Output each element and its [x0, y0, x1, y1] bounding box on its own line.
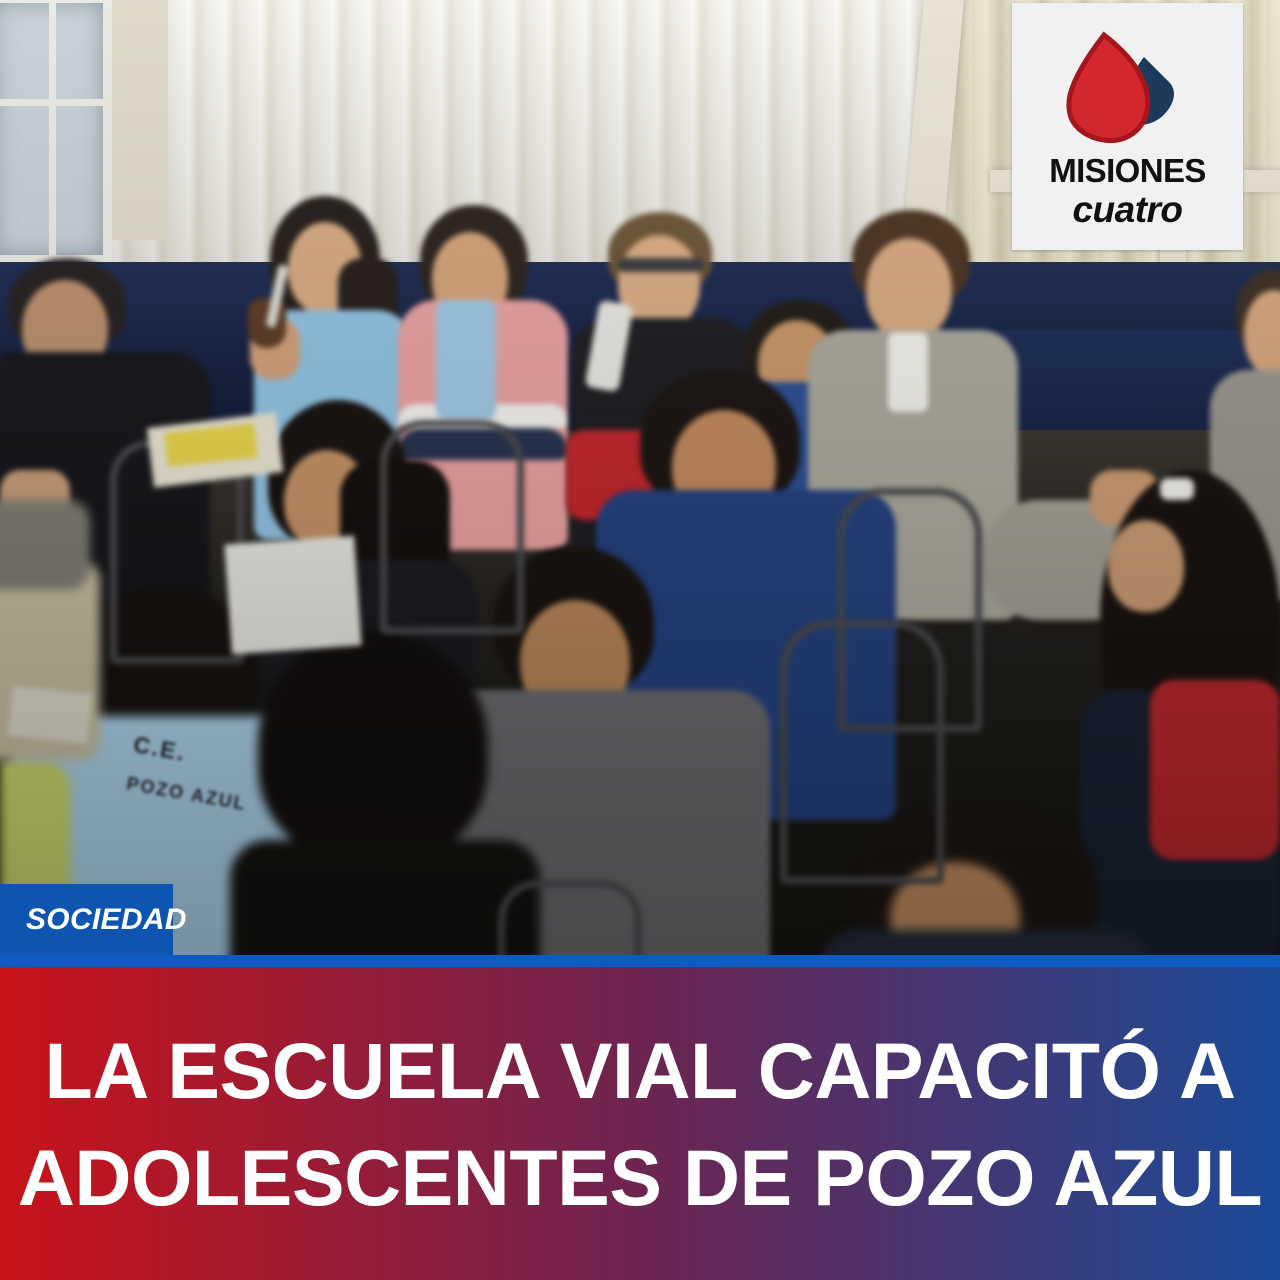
- chair-frame-5: [498, 880, 642, 957]
- headline-banner: LA ESCUELA VIAL CAPACITÓ A ADOLESCENTES …: [0, 967, 1280, 1280]
- window: [0, 0, 112, 264]
- window-mullion-vertical: [49, 3, 56, 255]
- logo-mark: [1058, 31, 1198, 146]
- headline-line-2: ADOLESCENTES DE POZO AZUL: [18, 1124, 1262, 1231]
- channel-logo[interactable]: MISIONES cuatro: [1012, 3, 1243, 250]
- paper-left-stack: [8, 686, 93, 744]
- chair-frame-2: [380, 420, 524, 634]
- headline-line-1: LA ESCUELA VIAL CAPACITÓ A: [44, 1017, 1235, 1124]
- category-badge[interactable]: SOCIEDAD: [0, 884, 173, 955]
- logo-wordmark: MISIONES: [1049, 154, 1206, 187]
- category-badge-label: SOCIEDAD: [0, 905, 187, 935]
- chair-frame-4: [780, 620, 944, 884]
- folder-white: [224, 536, 361, 655]
- logo-drop-icon: [1058, 31, 1198, 146]
- news-card: C.E. POZO AZUL SOCIEDAD: [0, 0, 1280, 1280]
- blue-separator-strip: [0, 955, 1280, 967]
- logo-subword: cuatro: [1072, 191, 1182, 228]
